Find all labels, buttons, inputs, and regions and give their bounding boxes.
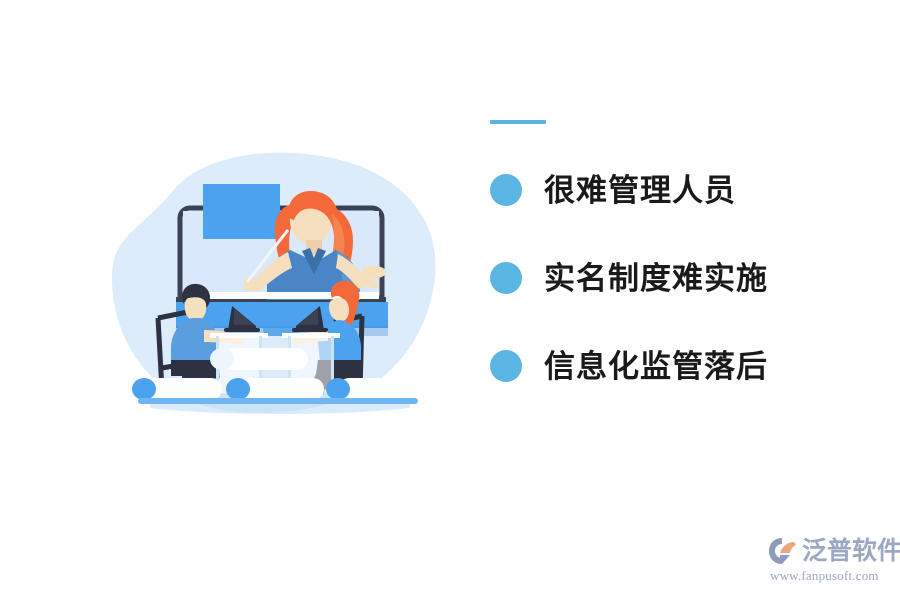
slide-root: 很难管理人员 实名制度难实施 信息化监管落后 泛普软件 www.fanpusof… [0,0,900,600]
list-item: 很难管理人员 [490,168,820,212]
bullet-dot-icon [490,262,522,294]
list-item: 实名制度难实施 [490,256,820,300]
brand-name: 泛普软件 [802,539,900,564]
watermark-logo: 泛普软件 www.fanpusoft.com [768,535,890,585]
online-training-illustration [110,140,440,420]
rolled-mats [132,378,418,404]
student-left-face [185,297,207,320]
rolled-mat-1 [132,378,222,400]
rolled-mat-3 [326,378,414,400]
list-item: 信息化监管落后 [490,344,820,388]
presentation-board [203,184,280,239]
mat-base-band [138,398,418,404]
logo-row: 泛普软件 [768,535,890,567]
content-column: 很难管理人员 实名制度难实施 信息化监管落后 [490,120,820,388]
accent-bar [490,120,546,124]
fanpu-logo-mark [768,536,798,566]
rolled-mat-2 [226,378,324,400]
rolled-mat-mid [210,348,308,370]
bullet-dot-icon [490,174,522,206]
bullet-label: 信息化监管落后 [544,351,768,382]
bullet-label: 很难管理人员 [544,175,736,206]
bullet-label: 实名制度难实施 [544,263,768,294]
brand-url: www.fanpusoft.com [770,568,890,584]
bullet-dot-icon [490,350,522,382]
bullet-list: 很难管理人员 实名制度难实施 信息化监管落后 [490,168,820,388]
